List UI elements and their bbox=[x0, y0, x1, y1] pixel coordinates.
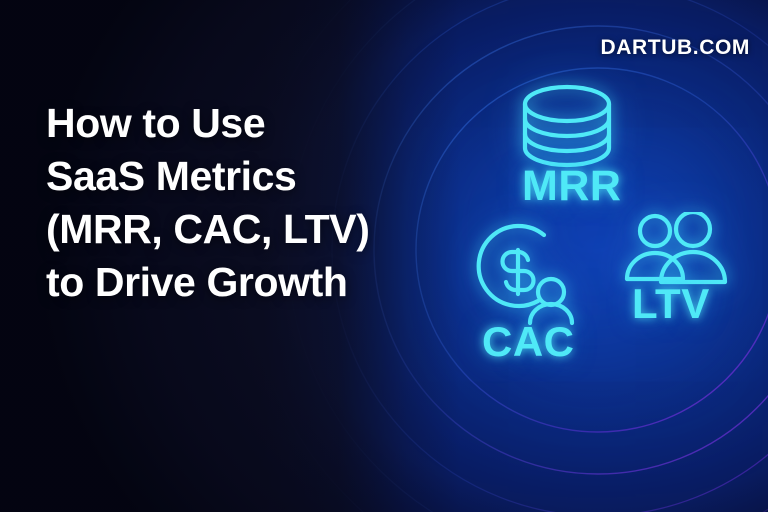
title-line-2: SaaS Metrics bbox=[46, 150, 446, 203]
title-line-4: to Drive Growth bbox=[46, 256, 446, 309]
title-line-3: (MRR, CAC, LTV) bbox=[46, 203, 446, 256]
title-line-1: How to Use bbox=[46, 97, 446, 150]
metric-mrr-label: MRR bbox=[522, 162, 621, 211]
page-title: How to Use SaaS Metrics (MRR, CAC, LTV) … bbox=[46, 97, 446, 309]
metric-ltv-label: LTV bbox=[632, 280, 710, 328]
brand-watermark: DARTUB.COM bbox=[601, 36, 750, 60]
dollar-circle-person-icon bbox=[472, 222, 586, 331]
graphic-canvas: DARTUB.COM How to Use SaaS Metrics (MRR,… bbox=[0, 0, 768, 512]
metric-cac-label: CAC bbox=[482, 318, 575, 366]
